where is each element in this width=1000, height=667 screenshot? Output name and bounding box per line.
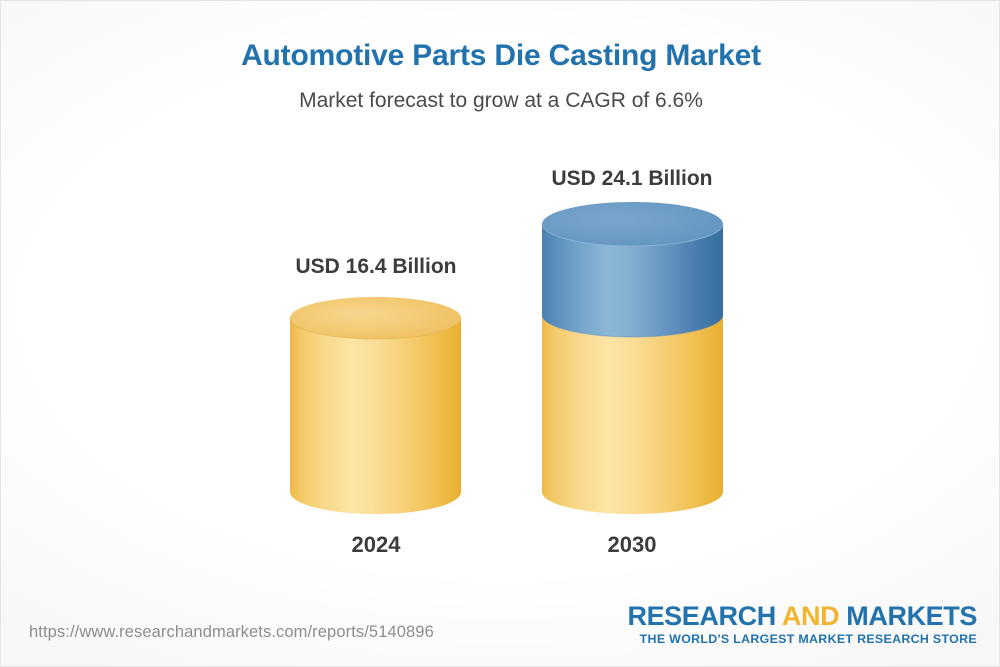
bar-category-label-2030: 2030 bbox=[516, 532, 748, 558]
bar-cylinder-2024-graphic bbox=[290, 297, 461, 513]
chart-stage: Automotive Parts Die Casting Market Mark… bbox=[1, 1, 1000, 667]
report-url[interactable]: https://www.researchandmarkets.com/repor… bbox=[29, 623, 434, 642]
bar-value-label-2030: USD 24.1 Billion bbox=[516, 167, 748, 191]
bar-body-2024 bbox=[290, 318, 461, 514]
brand-logo-markets: MARKETS bbox=[839, 601, 977, 631]
brand-logo-research: RESEARCH bbox=[627, 601, 781, 631]
bar-base-segment-2030 bbox=[542, 315, 723, 514]
bar-cylinder-2030-graphic bbox=[542, 202, 723, 513]
infographic-canvas: Automotive Parts Die Casting Market Mark… bbox=[0, 0, 1000, 667]
page-subtitle: Market forecast to grow at a CAGR of 6.6… bbox=[1, 89, 1000, 113]
bar-cylinder-2024 bbox=[290, 297, 461, 513]
bar-category-label-2024: 2024 bbox=[260, 532, 492, 558]
bar-value-label-2024: USD 16.4 Billion bbox=[260, 255, 492, 279]
brand-logo-wordmark: RESEARCH AND MARKETS bbox=[627, 602, 977, 630]
brand-logo-tagline: THE WORLD'S LARGEST MARKET RESEARCH STOR… bbox=[627, 632, 977, 646]
page-title: Automotive Parts Die Casting Market bbox=[1, 39, 1000, 73]
brand-logo[interactable]: RESEARCH AND MARKETS THE WORLD'S LARGEST… bbox=[627, 602, 977, 646]
bar-cylinder-2030 bbox=[542, 202, 723, 513]
brand-logo-and: AND bbox=[782, 601, 839, 631]
